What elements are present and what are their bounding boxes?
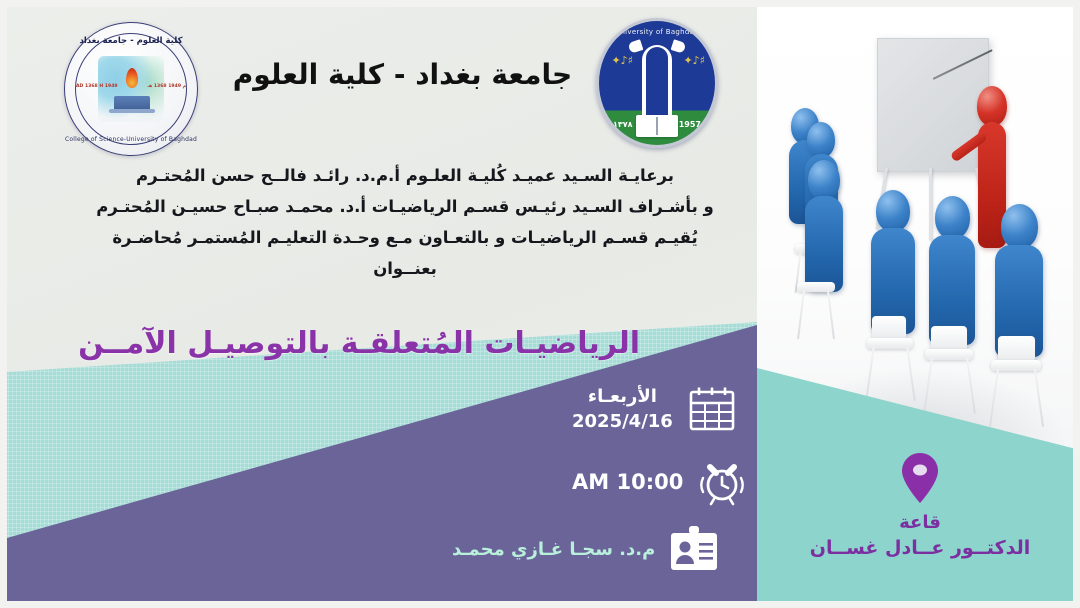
uob-ornament-left: ♯♪✦ bbox=[609, 55, 633, 101]
venue-line-2: الدكتــور عــادل غســان bbox=[790, 535, 1050, 561]
speaker-name: م.د. سجـا غـازي محمـد bbox=[440, 539, 667, 560]
laptop-icon bbox=[114, 96, 150, 112]
uob-wing-left bbox=[628, 39, 644, 53]
poster-header: كلية العلوم - جامعة بغداد 1949 AD 1368 H… bbox=[0, 0, 757, 160]
id-badge-icon bbox=[667, 522, 721, 576]
speaker-row: م.د. سجـا غـازي محمـد bbox=[440, 522, 721, 576]
uob-logo-year-arabic: ١٣٧٨ bbox=[613, 120, 633, 129]
announcement-body: برعايـة السـيد عميـد كُليـة العلـوم أ.م.… bbox=[60, 160, 750, 284]
body-line: بعنــوان bbox=[60, 253, 750, 284]
time-value: 10:00 AM bbox=[560, 470, 695, 494]
chair bbox=[989, 336, 1043, 426]
flame-icon bbox=[126, 68, 138, 88]
body-line: و بأشـراف السـيد رئيـس قسـم الرياضيـات أ… bbox=[60, 191, 750, 222]
college-of-science-logo: كلية العلوم - جامعة بغداد 1949 AD 1368 H… bbox=[64, 22, 198, 156]
location-pin-icon bbox=[900, 452, 940, 504]
poster-root: كلية العلوم - جامعة بغداد 1949 AD 1368 H… bbox=[0, 0, 1080, 608]
college-logo-arabic-text: كلية العلوم - جامعة بغداد bbox=[64, 36, 198, 46]
date-value: 2025/4/16 bbox=[572, 409, 673, 434]
date-row: الأربعـاء 2025/4/16 bbox=[560, 382, 739, 436]
uob-wing-right bbox=[671, 39, 687, 53]
venue-block: قاعة الدكتــور عــادل غســان bbox=[790, 452, 1050, 561]
chair bbox=[865, 316, 915, 400]
college-logo-year-left: 1949 AD 1368 H bbox=[76, 84, 118, 90]
chair bbox=[797, 282, 835, 352]
date-weekday: الأربعـاء bbox=[572, 384, 673, 409]
lecture-title: الرياضيـات المُتعلقـة بالتوصيـل الآمــن bbox=[120, 326, 640, 361]
uob-ornament-right: ♯♪✦ bbox=[681, 55, 705, 101]
uob-logo-year: 1957 bbox=[679, 120, 701, 129]
calendar-icon bbox=[685, 382, 739, 436]
university-of-baghdad-logo: University of Baghdad ♯♪✦ ♯♪✦ ١٣٧٨ 1957 bbox=[596, 18, 718, 148]
page-title: جامعة بغداد - كلية العلوم bbox=[215, 58, 590, 91]
body-line: برعايـة السـيد عميـد كُليـة العلـوم أ.م.… bbox=[60, 160, 750, 191]
college-logo-english-text: College of Science-University of Baghdad bbox=[64, 136, 198, 143]
uob-arch bbox=[642, 45, 672, 119]
uob-logo-english-text: University of Baghdad bbox=[599, 28, 715, 36]
college-logo-year-right: م 1949 1368 هـ bbox=[147, 84, 186, 90]
time-row: 10:00 AM bbox=[560, 455, 749, 509]
open-book-icon bbox=[636, 115, 678, 137]
body-line: يُقيـم قسـم الرياضيـات و بالتعـاون مـع و… bbox=[60, 222, 750, 253]
venue-line-1: قاعة bbox=[790, 510, 1050, 535]
chair bbox=[923, 326, 975, 414]
alarm-clock-icon bbox=[695, 455, 749, 509]
date-text: الأربعـاء 2025/4/16 bbox=[560, 384, 685, 434]
